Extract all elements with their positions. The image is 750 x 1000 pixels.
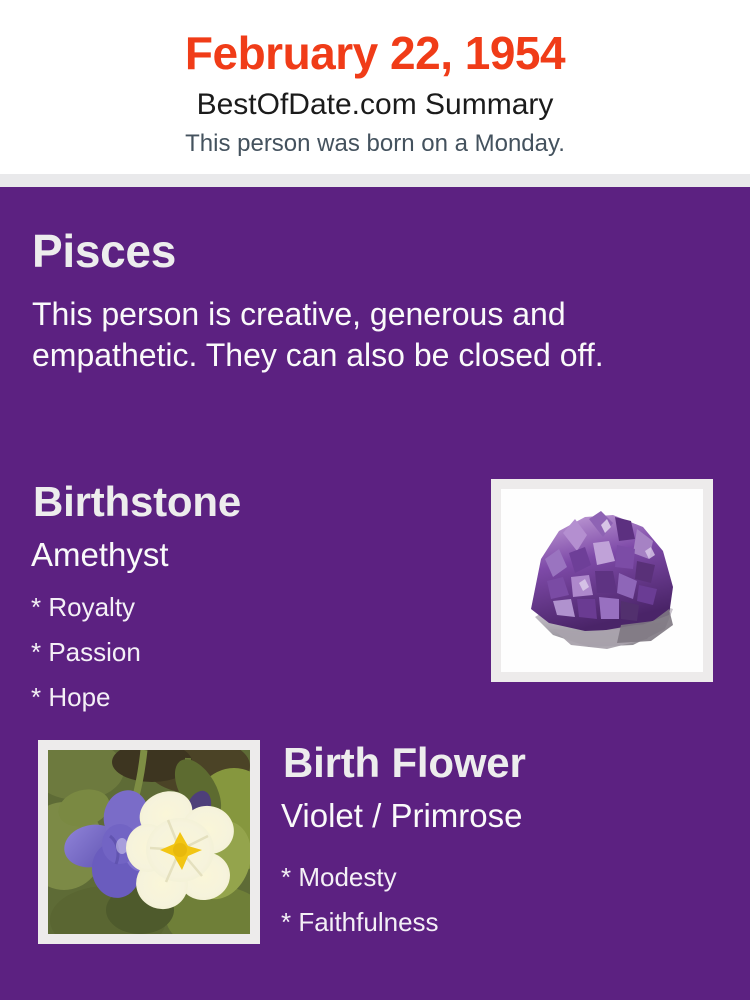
birth-flower-heading: Birth Flower bbox=[283, 736, 526, 790]
summary-card: February 22, 1954 BestOfDate.com Summary… bbox=[0, 0, 750, 1000]
page-title: February 22, 1954 bbox=[0, 25, 750, 81]
birthstone-trait-list: * Royalty * Passion * Hope bbox=[31, 585, 461, 720]
header-divider bbox=[0, 174, 750, 187]
amethyst-crystal-icon bbox=[501, 489, 703, 672]
violet-primrose-flower-icon bbox=[48, 750, 250, 934]
birthstone-image bbox=[491, 479, 713, 682]
born-day-text: This person was born on a Monday. bbox=[0, 129, 750, 159]
zodiac-sign-name: Pisces bbox=[32, 222, 176, 280]
birthstone-heading: Birthstone bbox=[33, 475, 241, 529]
header: February 22, 1954 BestOfDate.com Summary… bbox=[0, 0, 750, 174]
birth-flower-image-inner bbox=[48, 750, 250, 934]
site-summary-label: BestOfDate.com Summary bbox=[0, 87, 750, 123]
list-item: * Modesty bbox=[281, 855, 711, 900]
list-item: * Passion bbox=[31, 630, 461, 675]
list-item: * Hope bbox=[31, 675, 461, 720]
birth-flower-name: Violet / Primrose bbox=[281, 795, 522, 837]
birth-flower-image bbox=[38, 740, 260, 944]
list-item: * Faithfulness bbox=[281, 900, 711, 945]
list-item: * Royalty bbox=[31, 585, 461, 630]
zodiac-description: This person is creative, generous and em… bbox=[32, 294, 704, 376]
birthstone-name: Amethyst bbox=[31, 534, 169, 576]
birthstone-image-inner bbox=[501, 489, 703, 672]
birth-flower-trait-list: * Modesty * Faithfulness bbox=[281, 855, 711, 945]
